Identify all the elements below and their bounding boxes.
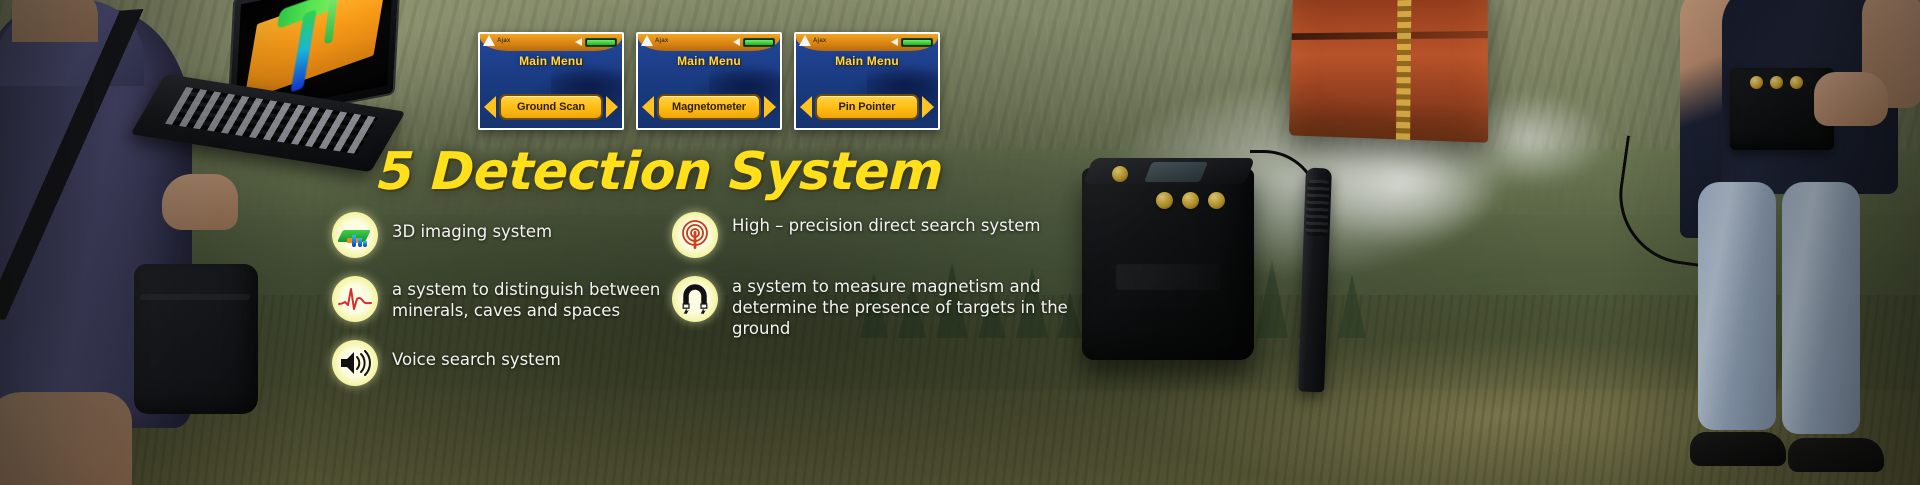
magnet-glyph [680,284,710,314]
speaker-icon [332,340,378,386]
brand-triangle-icon [483,35,495,46]
battery-icon [743,38,775,47]
feature-label: 3D imaging system [392,212,552,242]
screen-brand-logo: Ajax [483,35,510,46]
mode-select-button[interactable]: Magnetometer [657,94,761,120]
brand-name: Ajax [497,38,510,44]
next-arrow-icon[interactable] [606,96,618,118]
speaker-glyph [339,350,371,376]
brand-name: Ajax [813,38,826,44]
3d-bar-1 [352,235,356,247]
device-screen-magnetometer[interactable]: Ajax Main Menu Magnetometer [636,32,782,130]
feature-label: a system to distinguish between minerals… [392,276,712,321]
screen-selector-row: Pin Pointer [800,94,934,120]
3d-imaging-glyph [338,224,372,246]
feature-item-magnetism: a system to measure magnetism and determ… [672,276,1072,339]
device-screen-ground-scan[interactable]: Ajax Main Menu Ground Scan [478,32,624,130]
brand-triangle-icon [641,35,653,46]
screen-menu-title: Main Menu [796,54,938,68]
feature-item-voice-search: Voice search system [332,340,712,386]
brand-triangle-icon [799,35,811,46]
signal-target-icon [672,212,718,258]
page-title: 5 Detection System [376,142,944,202]
device-screen-pin-pointer[interactable]: Ajax Main Menu Pin Pointer [794,32,940,130]
battery-level-fill [903,40,931,45]
screen-selector-row: Magnetometer [642,94,776,120]
mode-select-button[interactable]: Ground Scan [499,94,603,120]
3d-bar-3 [363,241,367,247]
prev-arrow-icon[interactable] [484,96,496,118]
3d-bar-2 [358,238,362,247]
screen-menu-title: Main Menu [638,54,780,68]
speaker-icon [891,38,898,46]
prev-arrow-icon[interactable] [800,96,812,118]
device-screen-group: Ajax Main Menu Ground Scan Ajax Main Men… [478,32,940,130]
battery-level-fill [745,40,773,45]
prev-arrow-icon[interactable] [642,96,654,118]
brand-name: Ajax [655,38,668,44]
feature-list-left: 3D imaging system a system to distinguis… [332,212,712,404]
waveform-glyph [338,286,372,312]
signal-target-glyph [680,220,710,250]
feature-label: High – precision direct search system [732,212,1040,236]
3d-imaging-icon [332,212,378,258]
screen-brand-logo: Ajax [799,35,826,46]
screen-brand-logo: Ajax [641,35,668,46]
feature-label: a system to measure magnetism and determ… [732,276,1072,339]
battery-icon [585,38,617,47]
speaker-icon [733,38,740,46]
feature-item-high-precision-search: High – precision direct search system [672,212,1072,258]
waveform-icon [332,276,378,322]
promo-banner: Ajax Main Menu Ground Scan Ajax Main Men… [0,0,1920,485]
mode-select-button[interactable]: Pin Pointer [815,94,919,120]
next-arrow-icon[interactable] [922,96,934,118]
next-arrow-icon[interactable] [764,96,776,118]
feature-label: Voice search system [392,340,561,370]
feature-item-3d-imaging: 3D imaging system [332,212,712,258]
magnet-icon [672,276,718,322]
battery-icon [901,38,933,47]
battery-level-fill [587,40,615,45]
screen-selector-row: Ground Scan [484,94,618,120]
screen-menu-title: Main Menu [480,54,622,68]
feature-item-mineral-discrimination: a system to distinguish between minerals… [332,276,712,322]
feature-list-right: High – precision direct search system a … [672,212,1072,357]
speaker-icon [575,38,582,46]
